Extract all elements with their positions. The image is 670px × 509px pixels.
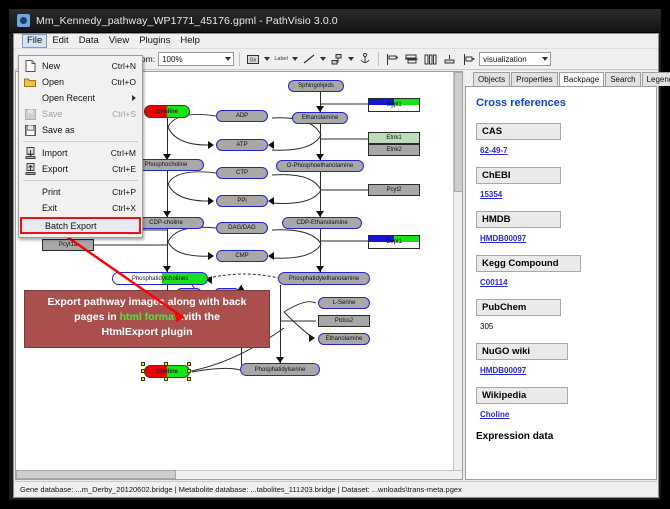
order-icon[interactable]	[460, 52, 476, 67]
align-center-icon[interactable]	[403, 52, 419, 67]
interaction-dropdown-icon[interactable]	[348, 57, 354, 61]
selection-handle[interactable]	[164, 377, 168, 381]
node-cmp[interactable]: CMP	[216, 250, 268, 262]
tab-properties[interactable]: Properties	[511, 72, 557, 86]
callout-line-1: Export pathway images along with back	[31, 295, 263, 310]
arrow-head	[309, 334, 315, 342]
node-pcyt1a[interactable]: Pcyt1a	[42, 239, 94, 251]
menu-item-exit[interactable]: Exit Ctrl+X	[19, 200, 142, 216]
xref-db-name: NuGO wiki	[476, 343, 568, 360]
node-cept1[interactable]: Cept1	[368, 235, 420, 249]
side-panel-tabs: Objects Properties Backpage Search Legen…	[465, 71, 657, 86]
selection-handle[interactable]	[187, 369, 191, 373]
menu-item-accel: Ctrl+E	[112, 164, 142, 174]
xref-value-link[interactable]: 62-49-7	[480, 146, 508, 155]
backpage-panel: Cross references CAS 62-49-7 ChEBI 15354…	[465, 86, 657, 480]
file-menu-dropdown[interactable]: New Ctrl+N Open Ctrl+O Open Recent Save	[18, 55, 143, 238]
node-cdp-ethanolamine[interactable]: CDP-Ethanolamine	[282, 217, 362, 229]
node-ethanolamine-2[interactable]: Ethanolamine	[318, 333, 370, 345]
node-ctp[interactable]: CTP	[216, 167, 268, 179]
menu-item-label: New	[42, 61, 112, 71]
node-l-serine[interactable]: L-Serine	[318, 297, 370, 309]
label-icon[interactable]: Label	[273, 52, 289, 67]
label-dropdown-icon[interactable]	[292, 57, 298, 61]
save-disk-icon	[23, 108, 37, 121]
node-choline-top[interactable]: Choline	[144, 105, 190, 118]
line-icon[interactable]	[301, 52, 317, 67]
menu-item-open-recent[interactable]: Open Recent	[19, 90, 142, 106]
tab-search[interactable]: Search	[605, 72, 640, 86]
menu-item-label: Batch Export	[45, 221, 139, 231]
blank-icon	[23, 186, 37, 199]
xref-db-name: Kegg Compound	[476, 255, 581, 272]
toolbar-separator	[239, 52, 240, 66]
menu-item-label: Open	[42, 77, 111, 87]
menu-item-batch-export[interactable]: Batch Export	[20, 217, 141, 234]
node-sgpl1[interactable]: Sgpl1	[368, 98, 420, 112]
zoom-combobox[interactable]: 100%	[158, 52, 234, 66]
arrow-head	[268, 252, 274, 260]
arrow-head	[268, 141, 274, 149]
annotation-callout: Export pathway images along with back pa…	[24, 290, 270, 348]
window-title: Mm_Kennedy_pathway_WP1771_45176.gpml - P…	[36, 15, 338, 27]
scrollbar-thumb-h[interactable]	[16, 470, 176, 479]
xref-nugo-wiki: NuGO wiki HMDB00097	[476, 343, 648, 378]
distribute-icon[interactable]	[422, 52, 438, 67]
menu-item-label: Export	[42, 164, 112, 174]
visualization-value: visualization	[483, 55, 527, 64]
submenu-arrow-icon	[132, 95, 136, 101]
line-dropdown-icon[interactable]	[320, 57, 326, 61]
expression-data-heading: Expression data	[476, 431, 648, 442]
node-phosphatidylethanolamine[interactable]: Phosphatidylethanolamine	[278, 272, 370, 285]
xref-cas: CAS 62-49-7	[476, 123, 648, 158]
node-sphingolipids[interactable]: Sphingolipids	[288, 80, 344, 92]
node-adp[interactable]: ADP	[216, 110, 268, 122]
datanode-dropdown-icon[interactable]	[264, 57, 270, 61]
node-sgpl1-label: Sgpl1	[369, 102, 419, 108]
menu-edit[interactable]: Edit	[47, 34, 73, 48]
label-text: Label	[274, 56, 287, 62]
xref-value-link[interactable]: HMDB00097	[480, 234, 526, 243]
xref-kegg-compound: Kegg Compound C00114	[476, 255, 648, 290]
arrow-head	[268, 197, 274, 205]
xref-value-link[interactable]: C00114	[480, 278, 508, 287]
xref-value-link[interactable]: Choline	[480, 410, 509, 419]
menu-item-label: Open Recent	[42, 93, 132, 103]
menu-item-accel: Ctrl+S	[112, 109, 142, 119]
chevron-down-icon	[225, 57, 231, 61]
node-dag[interactable]: DAG/DAG	[216, 222, 268, 234]
menu-item-label: Save as	[42, 125, 136, 135]
export-icon	[23, 163, 37, 176]
menu-plugins[interactable]: Plugins	[134, 34, 175, 48]
pathvisio-icon	[17, 14, 30, 27]
menu-item-label: Import	[42, 148, 111, 158]
node-etnk2[interactable]: Etnk2	[368, 144, 420, 156]
visualization-combobox[interactable]: visualization	[479, 52, 551, 66]
xref-db-name: Wikipedia	[476, 387, 568, 404]
toolbar-separator-2	[378, 52, 379, 66]
blank-icon	[23, 202, 37, 215]
menu-item-open[interactable]: Open Ctrl+O	[19, 74, 142, 90]
xref-db-name: ChEBI	[476, 167, 561, 184]
svg-text:Gn: Gn	[250, 57, 257, 63]
selection-handle[interactable]	[164, 362, 168, 366]
xref-value-link[interactable]: 15354	[480, 190, 502, 199]
node-etnk1[interactable]: Etnk1	[368, 132, 420, 144]
tab-objects[interactable]: Objects	[473, 72, 510, 86]
menu-item-save: Save Ctrl+S	[19, 106, 142, 122]
cross-references-heading: Cross references	[476, 97, 648, 109]
zoom-value: 100%	[162, 55, 182, 64]
xref-wikipedia: Wikipedia Choline	[476, 387, 648, 422]
xref-value-text: 305	[480, 322, 493, 331]
interaction-icon[interactable]	[329, 52, 345, 67]
xref-db-name: PubChem	[476, 299, 561, 316]
xref-chebi: ChEBI 15354	[476, 167, 648, 202]
arrow-head	[208, 197, 214, 205]
selection-handle[interactable]	[141, 362, 145, 366]
menu-separator-2	[23, 180, 138, 181]
node-phosphatidylcholines[interactable]: Phosphatidylcholines	[112, 272, 208, 285]
callout-line-2-pre: pages in	[74, 311, 120, 323]
xref-hmdb: HMDB HMDB00097	[476, 211, 648, 246]
menu-item-import[interactable]: Import Ctrl+M	[19, 145, 142, 161]
arrow-head	[208, 252, 214, 260]
side-panel: Objects Properties Backpage Search Legen…	[465, 71, 657, 480]
datanode-icon[interactable]: Gn	[245, 52, 261, 67]
node-cept1-label: Cept1	[369, 239, 419, 245]
scrollbar-thumb[interactable]	[454, 72, 463, 192]
tab-legend[interactable]: Legend	[642, 72, 670, 86]
node-pcyt2[interactable]: Pcyt2	[368, 184, 420, 196]
selection-handle[interactable]	[141, 377, 145, 381]
menu-separator	[23, 141, 138, 142]
menu-item-accel: Ctrl+M	[111, 148, 142, 158]
xref-pubchem: PubChem 305	[476, 299, 648, 334]
callout-line-3: HtmlExport plugin	[31, 325, 263, 340]
menu-item-label: Exit	[42, 203, 112, 213]
new-file-icon	[23, 60, 37, 73]
selection-handle[interactable]	[187, 377, 191, 381]
blank-icon	[23, 92, 37, 105]
tab-backpage[interactable]: Backpage	[559, 72, 605, 87]
menu-item-accel: Ctrl+O	[111, 77, 142, 87]
menu-item-accel: Ctrl+N	[112, 61, 142, 71]
blank-icon	[26, 219, 40, 232]
node-o-phosphoethanolamine[interactable]: O-Phosphoethanolamine	[276, 160, 364, 172]
menu-view[interactable]: View	[104, 34, 134, 48]
menu-item-accel: Ctrl+P	[112, 187, 142, 197]
xref-db-name: HMDB	[476, 211, 561, 228]
node-ptdss2[interactable]: Ptdss2	[318, 315, 370, 327]
folder-open-icon	[23, 76, 37, 89]
menu-help[interactable]: Help	[175, 34, 205, 48]
align-left-icon[interactable]	[384, 52, 400, 67]
save-as-icon	[23, 124, 37, 137]
selection-handle[interactable]	[187, 362, 191, 366]
screenshot-root: Mm_Kennedy_pathway_WP1771_45176.gpml - P…	[0, 0, 670, 509]
application-window: Mm_Kennedy_pathway_WP1771_45176.gpml - P…	[8, 8, 662, 501]
stack-icon[interactable]	[441, 52, 457, 67]
node-ppi[interactable]: PPi	[216, 195, 268, 207]
menu-item-accel: Ctrl+X	[112, 203, 142, 213]
menu-item-new[interactable]: New Ctrl+N	[19, 58, 142, 74]
node-ethanolamine[interactable]: Ethanolamine	[292, 112, 348, 124]
callout-line-2: pages in html format with the	[31, 310, 263, 325]
menu-item-export[interactable]: Export Ctrl+E	[19, 161, 142, 177]
arrow-head	[208, 141, 214, 149]
menu-file[interactable]: File	[22, 34, 47, 48]
menu-data[interactable]: Data	[74, 34, 104, 48]
xref-value-link[interactable]: HMDB00097	[480, 366, 526, 375]
connector-line	[280, 285, 281, 363]
menu-item-label: Print	[42, 187, 112, 197]
callout-line-2-post: with the	[177, 311, 220, 323]
callout-highlight: html format	[120, 311, 178, 323]
canvas-horizontal-scrollbar[interactable]	[16, 470, 462, 479]
xref-db-name: CAS	[476, 123, 561, 140]
import-icon	[23, 147, 37, 160]
selected-node-wrapper[interactable]: Choline	[138, 359, 196, 384]
status-text: Gene database: ...m_Derby_20120602.bridg…	[20, 485, 462, 494]
node-phosphatidylserine[interactable]: Phosphatidylserine	[240, 363, 320, 376]
anchor-icon[interactable]	[357, 52, 373, 67]
title-bar: Mm_Kennedy_pathway_WP1771_45176.gpml - P…	[9, 9, 661, 33]
chevron-down-icon-2	[542, 57, 548, 61]
status-bar: Gene database: ...m_Derby_20120602.bridg…	[15, 481, 657, 496]
menu-item-label: Save	[42, 109, 112, 119]
menu-bar: File Edit Data View Plugins Help	[14, 34, 658, 49]
node-atp[interactable]: ATP	[216, 139, 268, 151]
menu-item-save-as[interactable]: Save as	[19, 122, 142, 138]
selection-handle[interactable]	[141, 369, 145, 373]
canvas-vertical-scrollbar[interactable]	[453, 72, 462, 479]
menu-item-print[interactable]: Print Ctrl+P	[19, 184, 142, 200]
